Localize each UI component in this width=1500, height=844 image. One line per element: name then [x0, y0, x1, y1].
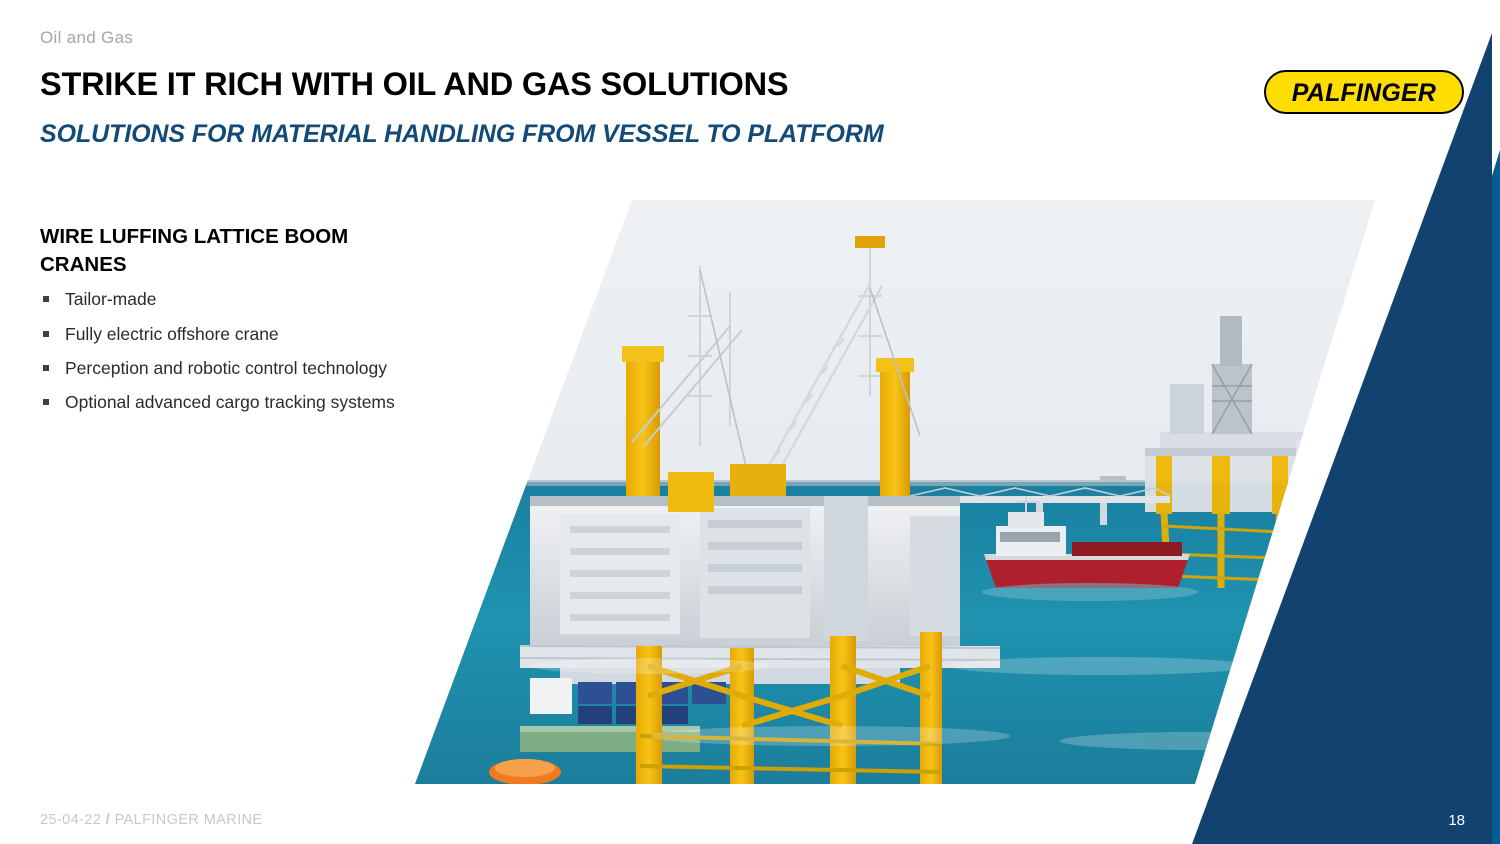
content-block: WIRE LUFFING LATTICE BOOM CRANES Tailor-…: [40, 223, 400, 425]
bullet-square-icon: [43, 399, 49, 405]
bullet-square-icon: [43, 296, 49, 302]
list-item-label: Fully electric offshore crane: [65, 324, 279, 344]
page-subtitle: SOLUTIONS FOR MATERIAL HANDLING FROM VES…: [40, 120, 884, 149]
page-number: 18: [1448, 812, 1465, 829]
footer-organization: PALFINGER MARINE: [115, 812, 263, 828]
content-heading: WIRE LUFFING LATTICE BOOM CRANES: [40, 223, 400, 278]
list-item: Fully electric offshore crane: [40, 323, 400, 346]
list-item-label: Tailor-made: [65, 289, 156, 309]
logo-wordmark: PALFINGER: [1292, 79, 1436, 107]
offshore-platform-photo: [400, 196, 1385, 788]
page-title: STRIKE IT RICH WITH OIL AND GAS SOLUTION…: [40, 66, 788, 103]
list-item: Tailor-made: [40, 288, 400, 311]
bullet-square-icon: [43, 331, 49, 337]
list-item-label: Perception and robotic control technolog…: [65, 358, 387, 378]
list-item-label: Optional advanced cargo tracking systems: [65, 392, 395, 412]
list-item: Perception and robotic control technolog…: [40, 357, 400, 380]
footer-date: 25-04-22: [40, 812, 101, 828]
palfinger-logo: PALFINGER: [1264, 70, 1464, 114]
slide: Oil and Gas STRIKE IT RICH WITH OIL AND …: [0, 0, 1500, 844]
list-item: Optional advanced cargo tracking systems: [40, 391, 400, 414]
footer-separator: /: [106, 812, 110, 828]
footer: 25-04-22 / PALFINGER MARINE: [40, 812, 263, 828]
bullet-square-icon: [43, 365, 49, 371]
slide-eyebrow: Oil and Gas: [40, 28, 133, 48]
feature-bullet-list: Tailor-made Fully electric offshore cran…: [40, 288, 400, 414]
